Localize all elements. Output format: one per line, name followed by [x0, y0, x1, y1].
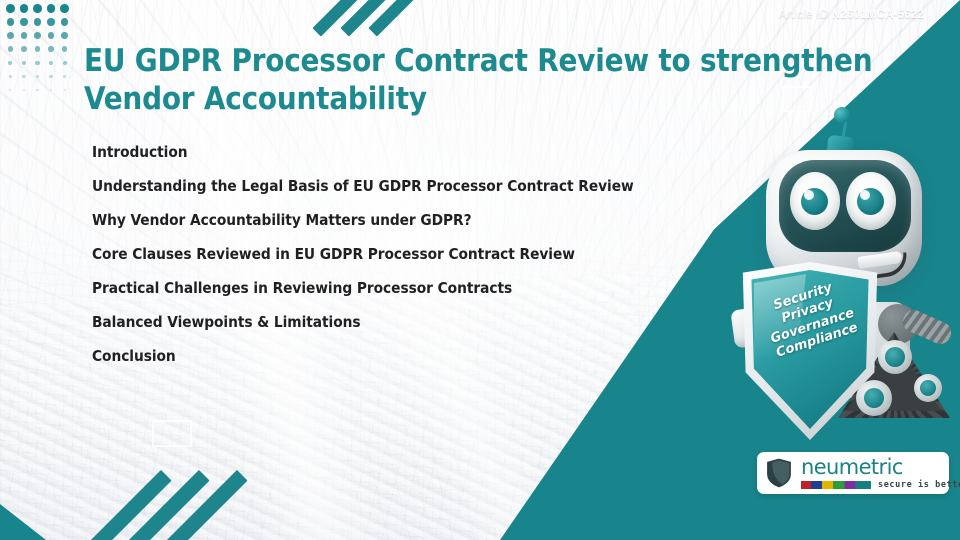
logo-shield-icon — [764, 456, 794, 490]
article-id: Article ID N2601MCA-5622 — [779, 9, 924, 21]
grid-dot — [60, 4, 69, 13]
neumetric-logo[interactable]: neumetric secure is better — [757, 452, 949, 494]
grid-dot — [61, 18, 69, 26]
agenda-item[interactable]: Conclusion — [92, 340, 752, 374]
grid-dot — [7, 18, 15, 26]
grid-dot — [49, 75, 52, 78]
agenda-item[interactable]: Balanced Viewpoints & Limitations — [92, 306, 752, 340]
grid-dot — [20, 18, 28, 26]
grid-dot — [36, 75, 39, 78]
diagonal-stripes-bottom — [120, 468, 260, 540]
agenda-item[interactable]: Core Clauses Reviewed in EU GDPR Process… — [92, 238, 752, 272]
grid-dot — [22, 75, 25, 78]
grid-dot — [9, 75, 12, 78]
grid-dot — [34, 18, 42, 26]
presentation-slide: Article ID N2601MCA-5622 EU GDPR Process… — [0, 0, 960, 540]
dot-grid-decoration — [6, 4, 80, 82]
grid-dot — [48, 46, 53, 51]
grid-dot — [47, 4, 56, 13]
grid-dot — [20, 4, 29, 13]
article-id-value: N2601MCA-5622 — [832, 9, 924, 21]
logo-tagline: secure is better — [878, 480, 960, 490]
agenda-item[interactable]: Practical Challenges in Reviewing Proces… — [92, 272, 752, 306]
grid-dot — [48, 32, 55, 39]
grid-dot — [62, 46, 67, 51]
decorative-square-outline-bottom — [152, 420, 192, 447]
grid-dot — [33, 4, 42, 13]
grid-dot — [23, 89, 25, 91]
logo-wordmark: neumetric — [801, 457, 960, 478]
robot-mascot: SecurityPrivacyGovernanceCompliance — [726, 104, 960, 434]
grid-dot — [49, 61, 53, 65]
logo-color-bar — [801, 481, 871, 489]
grid-dot — [21, 46, 26, 51]
robot-wheel-hub — [878, 340, 912, 374]
grid-dot — [8, 61, 12, 65]
grid-dot — [61, 32, 68, 39]
agenda-item[interactable]: Why Vendor Accountability Matters under … — [92, 204, 752, 238]
diagonal-stripes-top — [330, 0, 450, 32]
grid-dot — [35, 61, 39, 65]
agenda-item[interactable]: Introduction — [92, 136, 752, 170]
logo-text-block: neumetric secure is better — [801, 457, 960, 490]
agenda-item[interactable]: Understanding the Legal Basis of EU GDPR… — [92, 170, 752, 204]
logo-bottom-row: secure is better — [801, 480, 960, 490]
grid-dot — [47, 18, 55, 26]
grid-dot — [7, 32, 14, 39]
robot-eye-glint-right — [860, 190, 870, 200]
grid-dot — [6, 4, 15, 13]
robot-eye-glint-left — [804, 190, 814, 200]
grid-dot — [34, 32, 41, 39]
antenna-ball-icon — [834, 107, 850, 123]
grid-dot — [64, 89, 66, 91]
grid-dot — [21, 32, 28, 39]
grid-dot — [8, 46, 13, 51]
agenda-list: IntroductionUnderstanding the Legal Basi… — [92, 136, 752, 374]
grid-dot — [35, 46, 40, 51]
grid-dot — [22, 61, 26, 65]
grid-dot — [63, 61, 67, 65]
grid-dot — [36, 89, 38, 91]
grid-dot — [63, 75, 66, 78]
robot-wheel-hub — [914, 374, 942, 402]
article-id-label: Article ID — [779, 9, 829, 21]
mascot-shield: SecurityPrivacyGovernanceCompliance — [740, 262, 880, 440]
